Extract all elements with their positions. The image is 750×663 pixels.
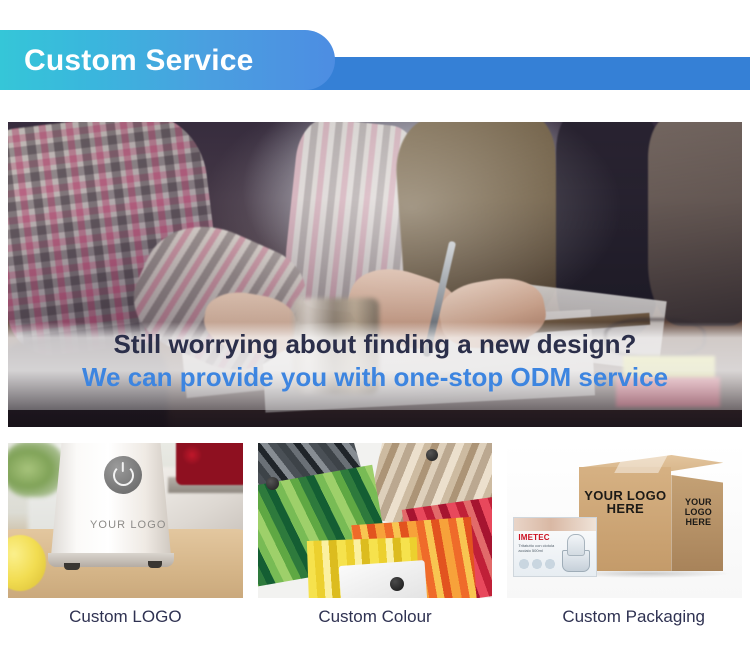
card1-herbs [8,443,64,497]
hero-headline: Still worrying about finding a new desig… [8,328,742,360]
feature-card-row: YOUR LOGO YOUR LOGO HERE YOUR LOGO HERE … [8,443,742,603]
card3-retail-tagline: Tritatutto con ciotola acciaio 500ml [518,543,554,553]
card2-fan-rivet-left [266,477,279,490]
card3-retail-brand: IMETEC [518,533,549,542]
page-title: Custom Service [24,43,254,79]
caption-row: Custom LOGO Custom Colour Custom Packagi… [8,603,742,643]
card1-logo-text: YOUR LOGO [90,519,167,531]
card3-retail-top-band [514,518,596,531]
card3-retail-feature-icons [518,558,556,569]
power-glyph [113,465,134,486]
card2-fan-rivet-bottom [390,577,404,591]
card2-white-swatch [338,560,427,598]
caption-custom-colour: Custom Colour [258,603,493,643]
card1-blender-foot-left [64,563,80,570]
header-accent-bar [300,57,750,90]
card-custom-packaging[interactable]: YOUR LOGO HERE YOUR LOGO HERE IMETEC Tri… [507,443,742,598]
card3-retail-product-image [558,532,592,572]
card3-carton-side-text: YOUR LOGO HERE [675,497,721,527]
card-custom-logo[interactable]: YOUR LOGO [8,443,243,598]
hero-text-block: Still worrying about finding a new desig… [8,328,742,393]
hero-subheadline: We can provide you with one-stop ODM ser… [8,361,742,393]
page-header: Custom Service [0,0,750,95]
card3-carton-front-text: YOUR LOGO HERE [581,489,669,515]
card1-blender-foot-right [148,561,162,568]
card3-product-lid [567,534,585,556]
card2-fan-rivet-top [426,449,438,461]
card-custom-colour[interactable] [258,443,493,598]
caption-custom-packaging: Custom Packaging [516,603,750,643]
power-button-icon [104,456,142,494]
caption-custom-logo: Custom LOGO [8,603,243,643]
hero-banner: Still worrying about finding a new desig… [8,122,742,427]
card3-retail-box: IMETEC Tritatutto con ciotola acciaio 50… [513,517,597,577]
card1-cherries [176,443,243,485]
